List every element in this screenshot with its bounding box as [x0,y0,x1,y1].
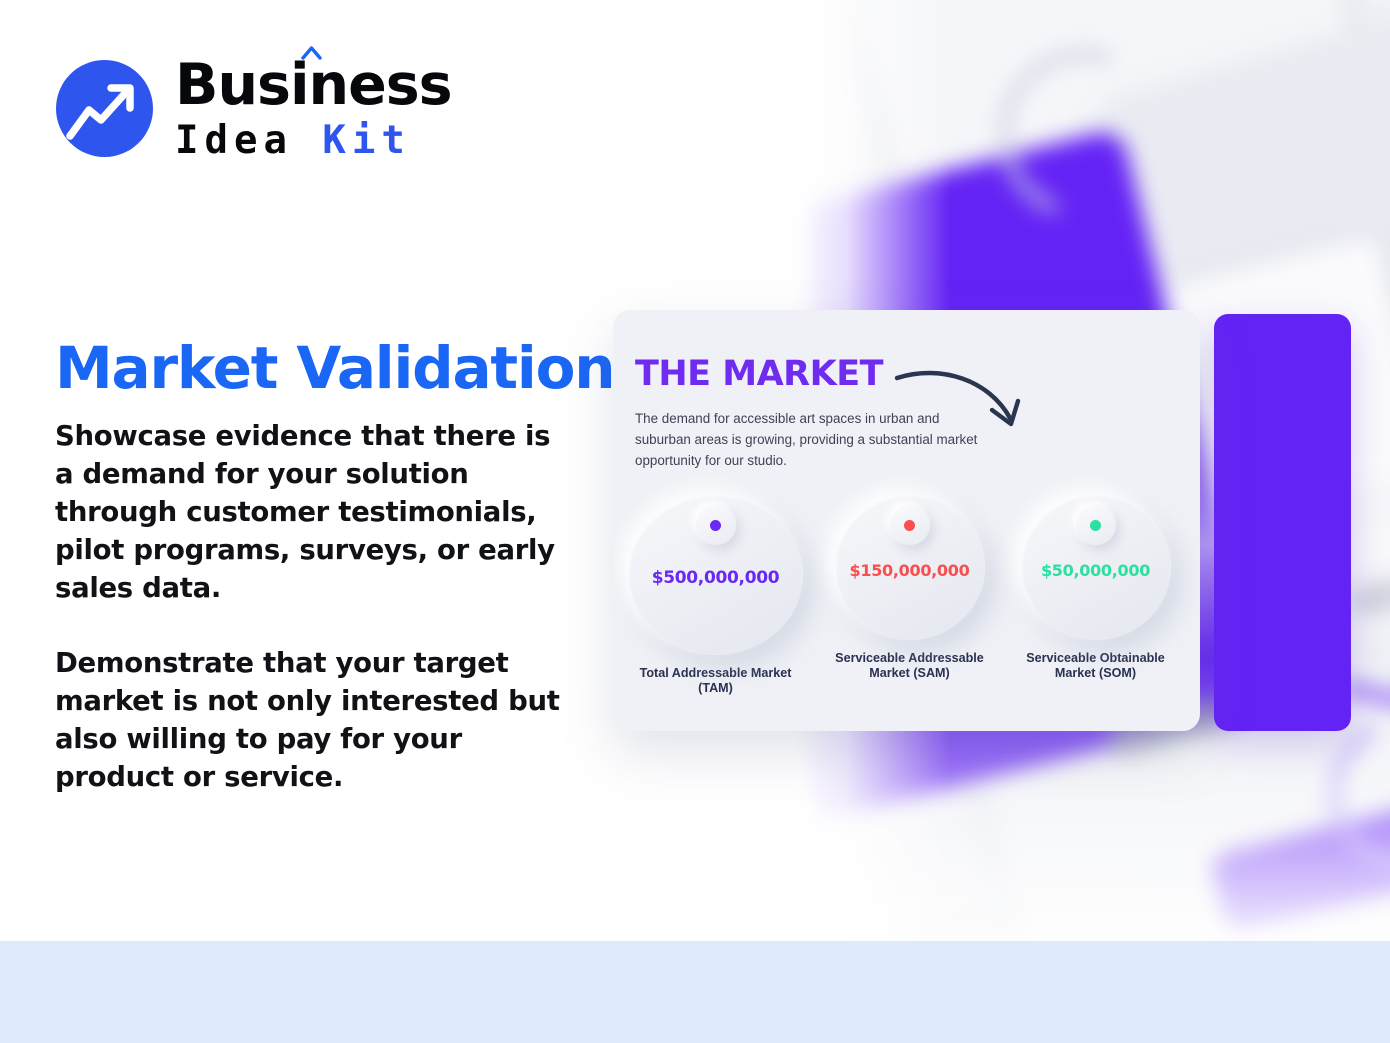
metric-label: Serviceable Obtainable Market (SOM) [1008,651,1183,682]
metric-dot-icon [696,505,736,545]
body-paragraph-1: Showcase evidence that there is a demand… [55,418,575,608]
growth-arrow-icon [56,60,153,157]
metric-value: $50,000,000 [1041,561,1150,580]
market-card-heading: THE MARKET [635,354,883,394]
brand-name-bottom-accent: Kit [322,118,410,163]
page-body-copy: Showcase evidence that there is a demand… [55,418,575,796]
brand-name-bottom-dark: Idea [175,118,293,163]
brand-wordmark: Business Idea Kit [175,57,452,160]
curved-arrow-icon [893,358,1033,438]
slide-canvas: Business Idea Kit Market Validation Show… [0,0,1390,1043]
purple-accent-panel [1214,314,1351,731]
metric-som[interactable]: $50,000,000 Serviceable Obtainable Marke… [1008,495,1183,682]
brand-logo[interactable]: Business Idea Kit [56,57,452,160]
the-market-slide-card[interactable]: THE MARKET The demand for accessible art… [613,310,1200,731]
page-title: Market Validation [55,334,614,402]
metric-bubble: $50,000,000 [1021,495,1171,640]
metric-dot-icon [890,505,930,545]
footer-band [0,941,1390,1043]
metric-bubble: $150,000,000 [835,495,985,640]
metric-bubble: $500,000,000 [628,495,803,655]
circumflex-accent-icon [301,46,322,60]
metric-value: $150,000,000 [850,561,970,580]
brand-name-top-text: Business [175,52,452,118]
brand-name-top: Business [175,57,452,114]
metric-value: $500,000,000 [652,568,780,588]
metric-label: Total Addressable Market (TAM) [628,666,803,697]
metric-tam[interactable]: $500,000,000 Total Addressable Market (T… [628,495,803,697]
metric-label: Serviceable Addressable Market (SAM) [822,651,997,682]
metric-dot-icon [1076,505,1116,545]
metric-sam[interactable]: $150,000,000 Serviceable Addressable Mar… [822,495,997,682]
market-metrics-row: $500,000,000 Total Addressable Market (T… [613,495,1200,695]
brand-name-bottom: Idea Kit [175,121,452,160]
body-paragraph-2: Demonstrate that your target market is n… [55,645,575,797]
